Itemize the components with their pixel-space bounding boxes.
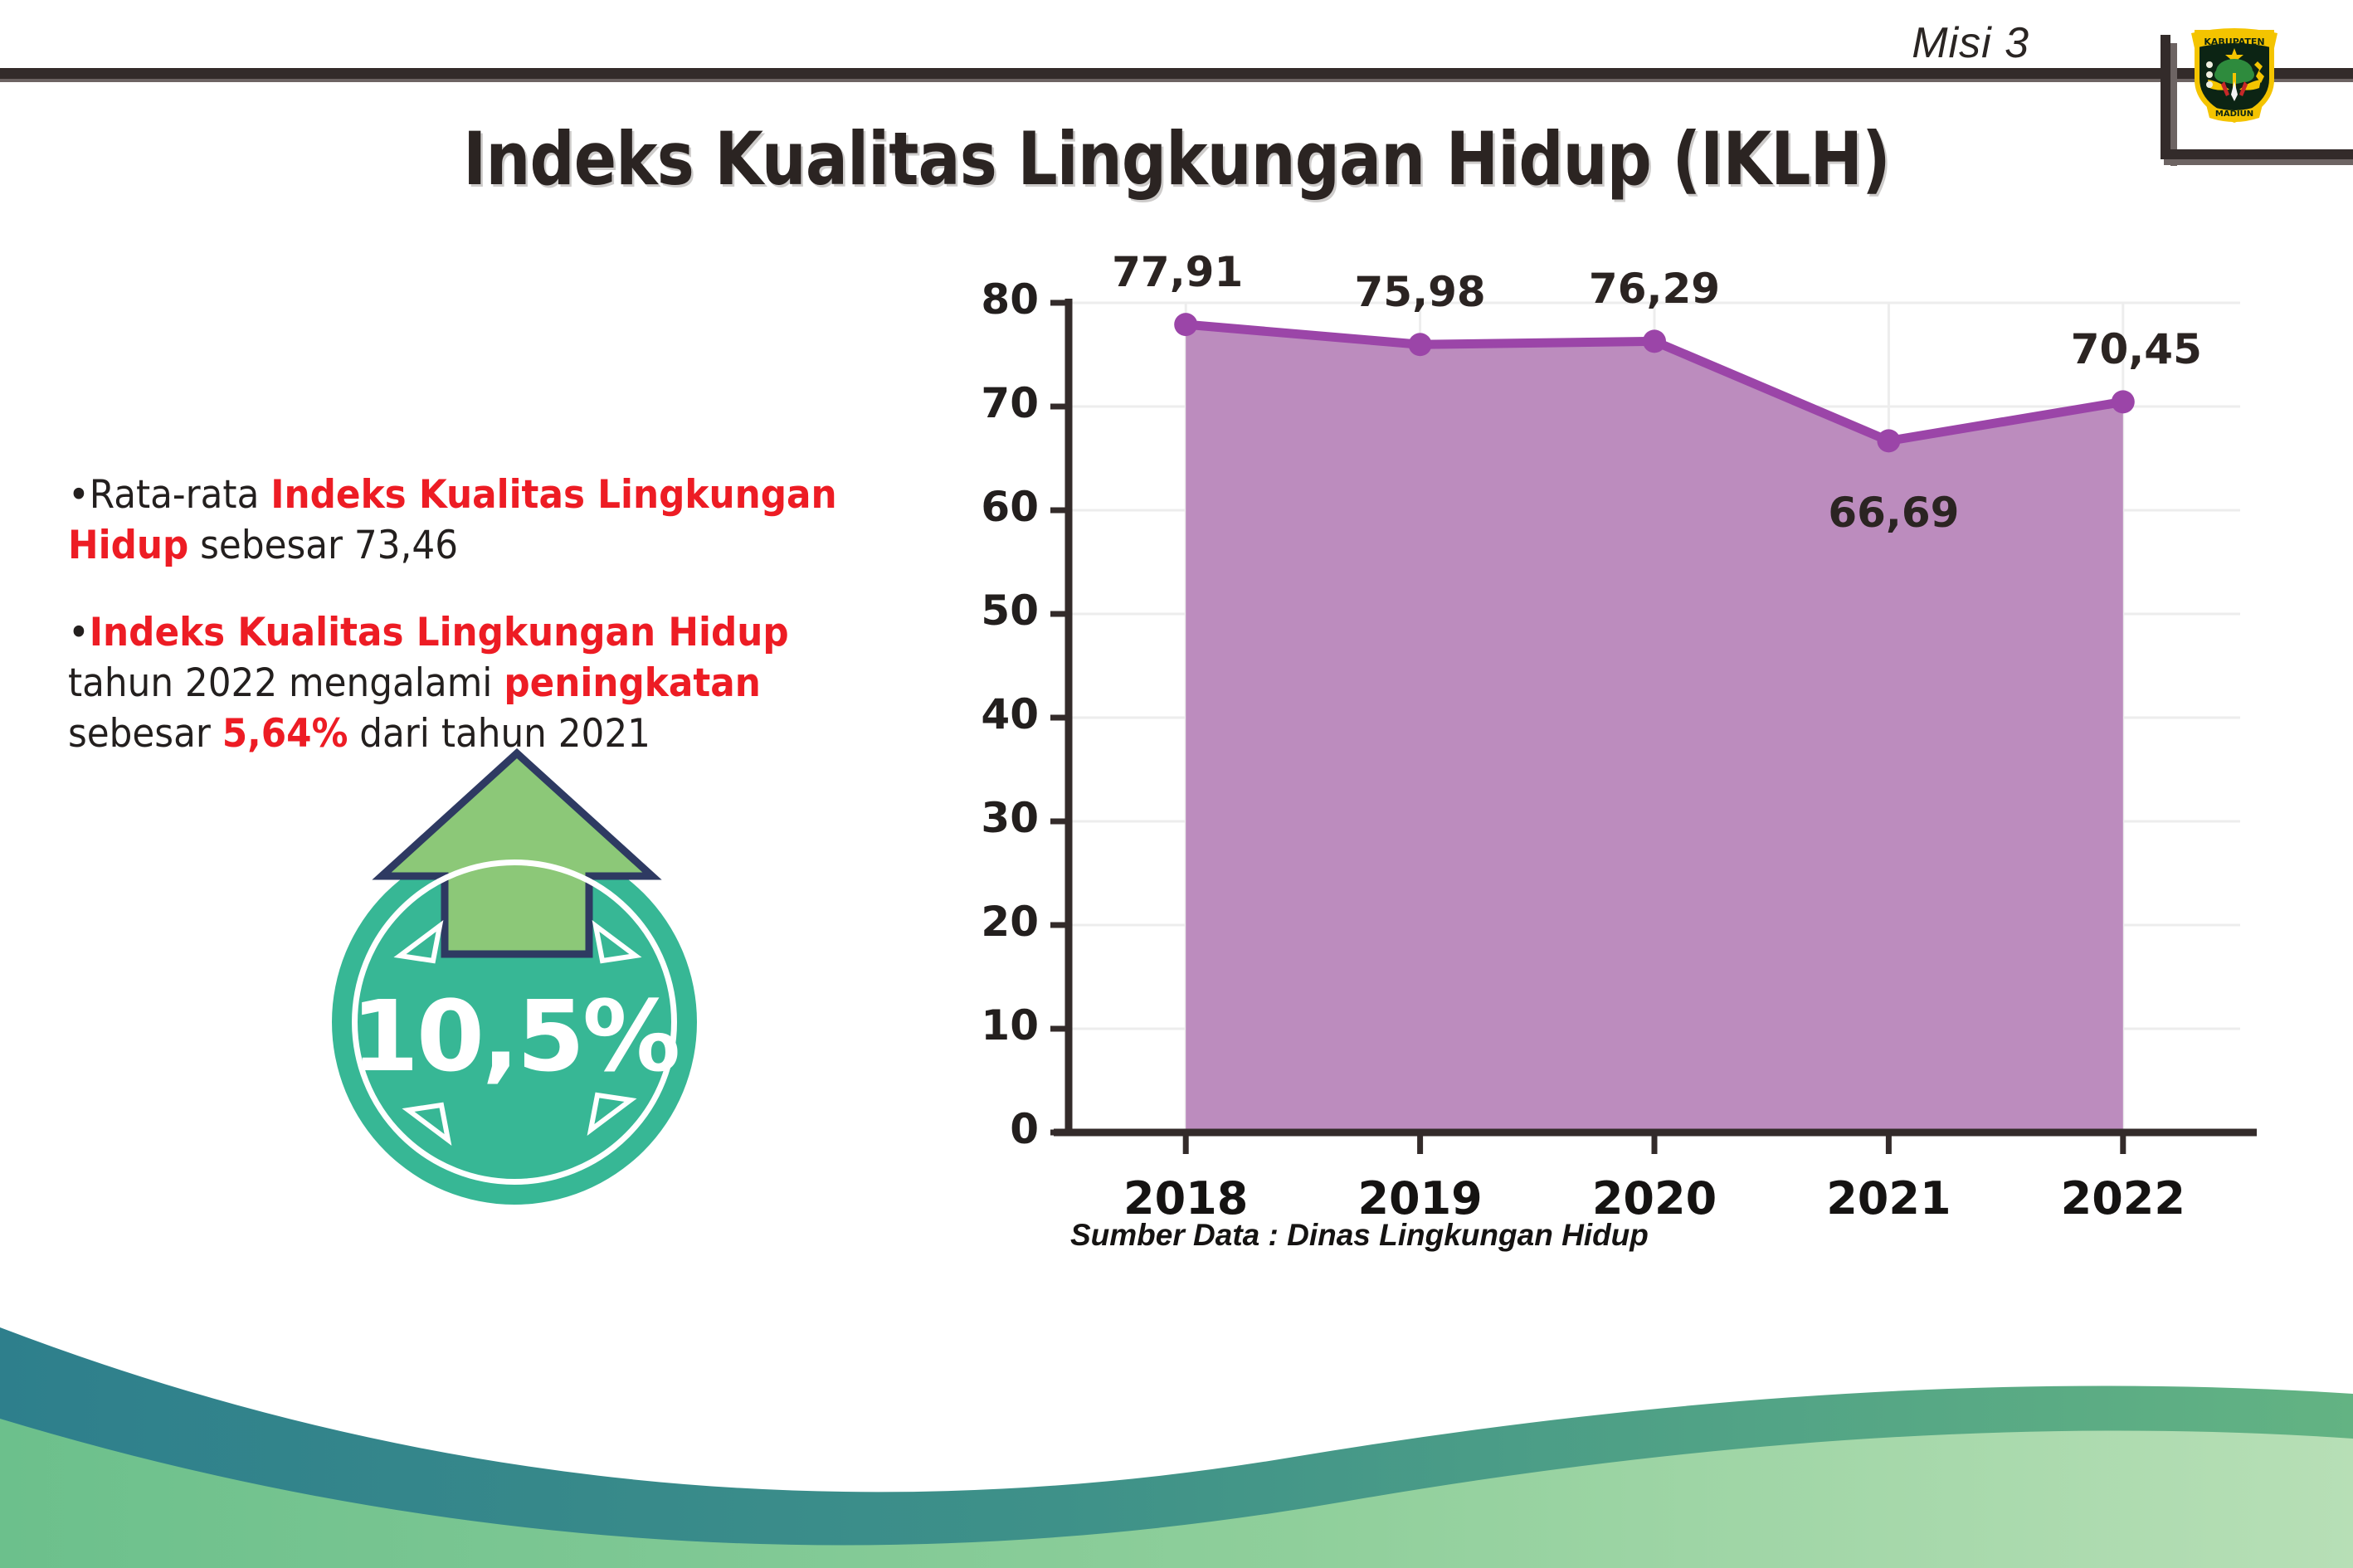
chart-area-fill [1186, 324, 2123, 1132]
bullet-1-run-2: tahun 2022 mengalami [68, 660, 504, 706]
iklh-area-chart: 01020304050607080 20182019202020212022 7… [971, 274, 2265, 1303]
data-label-2018: 77,91 [1078, 248, 1277, 296]
infographic-page: Misi 3 KABUPATEN MADIUN Indeks Kualitas … [0, 0, 2353, 1568]
y-tick-10: 10 [939, 1001, 1039, 1049]
y-tick-40: 40 [939, 690, 1039, 738]
bullet-item-increase: •Indeks Kualitas Lingkungan Hidup tahun … [68, 607, 886, 759]
chart-canvas [971, 274, 2265, 1303]
y-tick-20: 20 [939, 898, 1039, 946]
footer-wave-decoration [0, 1294, 2353, 1568]
source-note: Sumber Data : Dinas Lingkungan Hidup [1070, 1218, 1649, 1253]
header-divider-rule [0, 68, 2353, 79]
y-tick-50: 50 [939, 587, 1039, 635]
y-tick-60: 60 [939, 483, 1039, 531]
bullet-item-average: •Rata-rata Indeks Kualitas Lingkungan Hi… [68, 470, 886, 571]
bullet-1-run-4: sebesar [68, 711, 222, 757]
page-footer: Media Infografis Data Statistik Sektoral… [0, 1294, 2353, 1568]
chart-marker-2020 [1643, 329, 1666, 353]
data-label-2019: 75,98 [1321, 268, 1520, 316]
y-tick-70: 70 [939, 379, 1039, 427]
badge-tick-top-right-icon [587, 918, 642, 972]
crest-bottom-text: MADIUN [2215, 110, 2253, 119]
bullet-0-run-2: sebesar 73,46 [188, 523, 458, 568]
bullet-0-run-0: •Rata-rata [68, 472, 270, 518]
y-tick-30: 30 [939, 794, 1039, 842]
x-tick-2020: 2020 [1555, 1172, 1754, 1225]
x-tick-2019: 2019 [1321, 1172, 1520, 1225]
chart-marker-2018 [1174, 313, 1197, 336]
badge-value-label: 10,5% [332, 979, 697, 1093]
bullet-1-run-0: • [68, 610, 90, 655]
x-tick-2022: 2022 [2024, 1172, 2223, 1225]
bullet-1-run-3: peningkatan [504, 660, 761, 706]
y-tick-0: 0 [939, 1105, 1039, 1153]
badge-tick-bottom-left-icon [402, 1093, 456, 1148]
x-tick-2018: 2018 [1086, 1172, 1285, 1225]
x-tick-2021: 2021 [1789, 1172, 1988, 1225]
chart-marker-2019 [1409, 333, 1432, 356]
bullet-1-run-1: Indeks Kualitas Lingkungan Hidup [90, 610, 789, 655]
data-label-2021: 66,69 [1794, 489, 1993, 537]
chart-marker-2021 [1877, 429, 1900, 452]
increase-badge: 10,5% [314, 747, 762, 1211]
kabupaten-madiun-crest-icon: KABUPATEN MADIUN [2188, 18, 2281, 124]
page-title: Indeks Kualitas Lingkungan Hidup (IKLH) [165, 116, 2189, 202]
y-tick-80: 80 [939, 275, 1039, 324]
chart-marker-2022 [2112, 390, 2135, 413]
badge-tick-top-left-icon [393, 918, 448, 972]
misi-label: Misi 3 [1912, 18, 2029, 68]
data-label-2022: 70,45 [2037, 325, 2236, 373]
crest-top-text: KABUPATEN [2204, 37, 2264, 47]
data-label-2020: 76,29 [1555, 265, 1754, 313]
